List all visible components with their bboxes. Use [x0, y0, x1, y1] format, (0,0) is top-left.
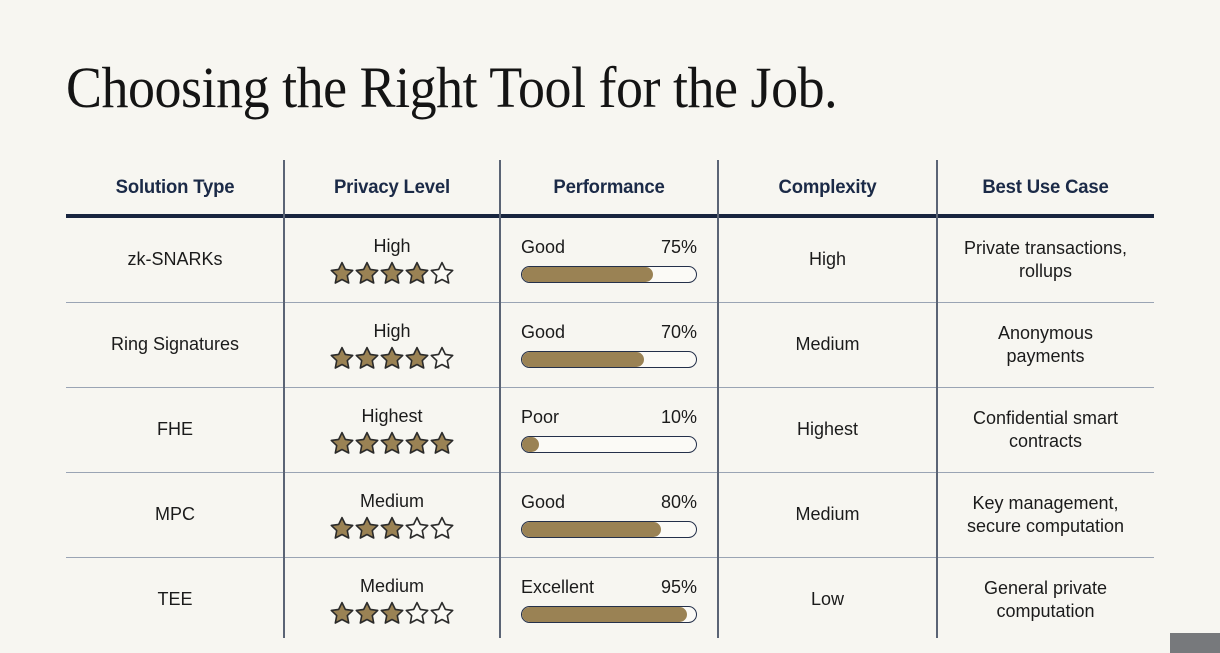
table-body: zk-SNARKsHighGood75%HighPrivate transact…: [66, 218, 1154, 642]
star-empty-icon: [430, 346, 454, 369]
cell-solution-type: MPC: [66, 473, 284, 557]
star-empty-icon: [405, 516, 429, 539]
star-empty-icon: [430, 601, 454, 624]
corner-artifact: [1170, 633, 1220, 653]
star-rating: [330, 346, 454, 369]
star-filled-icon: [355, 431, 379, 454]
star-filled-icon: [330, 261, 354, 284]
privacy-level-label: Medium: [360, 490, 424, 513]
cell-solution-type: FHE: [66, 388, 284, 472]
star-filled-icon: [430, 431, 454, 454]
privacy-level-label: Medium: [360, 575, 424, 598]
performance-meter: Good75%: [521, 236, 697, 283]
star-filled-icon: [355, 601, 379, 624]
star-filled-icon: [405, 431, 429, 454]
star-filled-icon: [380, 261, 404, 284]
performance-quality-label: Good: [521, 321, 565, 344]
table-row: TEEMediumExcellent95%LowGeneral privatec…: [66, 558, 1154, 642]
table-row: FHEHighestPoor10%HighestConfidential sma…: [66, 388, 1154, 472]
star-filled-icon: [380, 346, 404, 369]
column-header-privacy-level: Privacy Level: [289, 160, 494, 214]
progress-bar-fill: [522, 352, 644, 367]
table-row: zk-SNARKsHighGood75%HighPrivate transact…: [66, 218, 1154, 302]
star-filled-icon: [405, 261, 429, 284]
cell-best-use-case: Anonymouspayments: [937, 303, 1154, 387]
cell-complexity: Highest: [718, 388, 937, 472]
column-header-best-use-case: Best Use Case: [942, 160, 1148, 214]
performance-labels: Excellent95%: [521, 576, 697, 599]
star-filled-icon: [380, 516, 404, 539]
best-use-case-line-1: General private: [984, 577, 1107, 600]
performance-labels: Good75%: [521, 236, 697, 259]
star-rating: [330, 516, 454, 539]
cell-performance: Good70%: [500, 303, 718, 387]
page-title: Choosing the Right Tool for the Job.: [66, 52, 837, 124]
star-rating: [330, 431, 454, 454]
star-filled-icon: [330, 346, 354, 369]
cell-complexity: High: [718, 218, 937, 302]
cell-solution-type: Ring Signatures: [66, 303, 284, 387]
star-filled-icon: [330, 601, 354, 624]
cell-best-use-case: Confidential smartcontracts: [937, 388, 1154, 472]
cell-best-use-case: Private transactions,rollups: [937, 218, 1154, 302]
slide-canvas: Choosing the Right Tool for the Job. Sol…: [0, 0, 1220, 653]
best-use-case-line-1: Private transactions,: [964, 237, 1127, 260]
performance-percent-label: 70%: [661, 321, 697, 344]
performance-meter: Good70%: [521, 321, 697, 368]
performance-labels: Poor10%: [521, 406, 697, 429]
progress-bar-fill: [522, 437, 539, 452]
privacy-level-label: High: [373, 235, 410, 258]
column-header-complexity: Complexity: [723, 160, 931, 214]
cell-privacy-level: High: [284, 218, 500, 302]
star-filled-icon: [355, 346, 379, 369]
best-use-case-line-1: Confidential smart: [973, 407, 1118, 430]
comparison-table: Solution Type Privacy Level Performance …: [66, 160, 1154, 638]
progress-bar-track: [521, 266, 697, 283]
privacy-level-label: Highest: [361, 405, 422, 428]
cell-best-use-case: General privatecomputation: [937, 558, 1154, 642]
table-row: MPCMediumGood80%MediumKey management,sec…: [66, 473, 1154, 557]
table-row: Ring SignaturesHighGood70%MediumAnonymou…: [66, 303, 1154, 387]
performance-quality-label: Good: [521, 491, 565, 514]
cell-privacy-level: Medium: [284, 558, 500, 642]
best-use-case-line-2: rollups: [1019, 260, 1072, 283]
progress-bar-track: [521, 436, 697, 453]
cell-performance: Poor10%: [500, 388, 718, 472]
progress-bar-fill: [522, 267, 653, 282]
star-filled-icon: [355, 516, 379, 539]
best-use-case-line-2: contracts: [1009, 430, 1082, 453]
star-empty-icon: [405, 601, 429, 624]
best-use-case-line-2: computation: [996, 600, 1094, 623]
performance-percent-label: 10%: [661, 406, 697, 429]
best-use-case-line-2: payments: [1006, 345, 1084, 368]
cell-complexity: Low: [718, 558, 937, 642]
cell-complexity: Medium: [718, 303, 937, 387]
performance-percent-label: 95%: [661, 576, 697, 599]
progress-bar-track: [521, 521, 697, 538]
progress-bar-track: [521, 606, 697, 623]
star-filled-icon: [380, 601, 404, 624]
cell-solution-type: TEE: [66, 558, 284, 642]
cell-performance: Excellent95%: [500, 558, 718, 642]
performance-quality-label: Good: [521, 236, 565, 259]
star-rating: [330, 601, 454, 624]
cell-solution-type: zk-SNARKs: [66, 218, 284, 302]
cell-performance: Good75%: [500, 218, 718, 302]
progress-bar-fill: [522, 607, 687, 622]
column-header-performance: Performance: [505, 160, 712, 214]
cell-complexity: Medium: [718, 473, 937, 557]
star-filled-icon: [355, 261, 379, 284]
star-filled-icon: [330, 516, 354, 539]
column-header-solution-type: Solution Type: [71, 160, 278, 214]
cell-privacy-level: Medium: [284, 473, 500, 557]
performance-meter: Good80%: [521, 491, 697, 538]
cell-privacy-level: Highest: [284, 388, 500, 472]
progress-bar-fill: [522, 522, 661, 537]
star-rating: [330, 261, 454, 284]
performance-labels: Good70%: [521, 321, 697, 344]
performance-meter: Poor10%: [521, 406, 697, 453]
performance-percent-label: 80%: [661, 491, 697, 514]
performance-labels: Good80%: [521, 491, 697, 514]
star-filled-icon: [405, 346, 429, 369]
performance-meter: Excellent95%: [521, 576, 697, 623]
star-empty-icon: [430, 261, 454, 284]
performance-quality-label: Excellent: [521, 576, 594, 599]
cell-privacy-level: High: [284, 303, 500, 387]
star-filled-icon: [380, 431, 404, 454]
privacy-level-label: High: [373, 320, 410, 343]
star-empty-icon: [430, 516, 454, 539]
best-use-case-line-2: secure computation: [967, 515, 1124, 538]
performance-quality-label: Poor: [521, 406, 559, 429]
table-header-row: Solution Type Privacy Level Performance …: [66, 160, 1154, 214]
progress-bar-track: [521, 351, 697, 368]
best-use-case-line-1: Key management,: [972, 492, 1118, 515]
cell-best-use-case: Key management,secure computation: [937, 473, 1154, 557]
performance-percent-label: 75%: [661, 236, 697, 259]
star-filled-icon: [330, 431, 354, 454]
cell-performance: Good80%: [500, 473, 718, 557]
best-use-case-line-1: Anonymous: [998, 322, 1093, 345]
